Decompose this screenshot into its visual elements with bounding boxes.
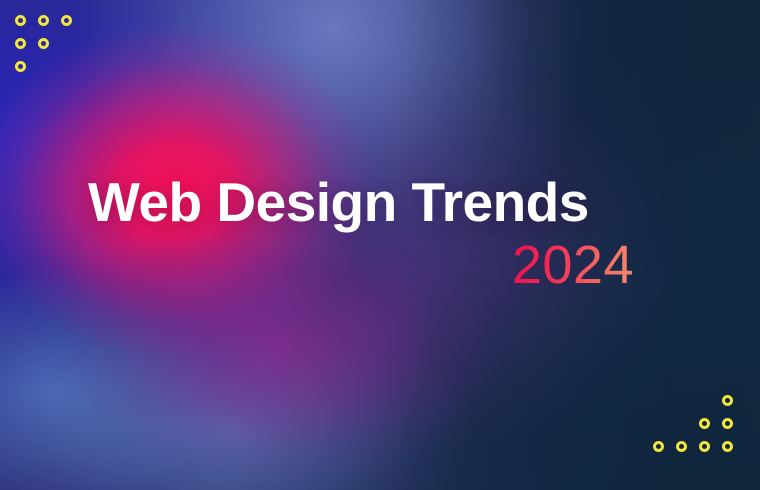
top-left-dot-6-icon xyxy=(15,61,26,72)
banner-year: 2024 xyxy=(512,236,634,294)
bottom-right-dot-6-icon xyxy=(699,441,710,452)
bottom-right-dot-2-icon xyxy=(699,418,710,429)
top-left-dot-2-icon xyxy=(38,15,49,26)
top-left-dot-3-icon xyxy=(61,15,72,26)
promo-banner: Web Design Trends 2024 xyxy=(0,0,760,490)
bottom-right-dot-5-icon xyxy=(676,441,687,452)
banner-year-row: 2024 xyxy=(88,236,636,294)
top-left-dot-4-icon xyxy=(15,38,26,49)
banner-headline: Web Design Trends xyxy=(88,172,636,232)
dot-cluster-bottom-right xyxy=(650,380,760,490)
bottom-right-dot-7-icon xyxy=(722,441,733,452)
bottom-right-dot-4-icon xyxy=(653,441,664,452)
banner-text-block: Web Design Trends 2024 xyxy=(88,172,636,294)
bottom-right-dot-3-icon xyxy=(722,418,733,429)
dot-cluster-top-left xyxy=(0,0,110,110)
top-left-dot-1-icon xyxy=(15,15,26,26)
bottom-right-dot-1-icon xyxy=(722,395,733,406)
top-left-dot-5-icon xyxy=(38,38,49,49)
